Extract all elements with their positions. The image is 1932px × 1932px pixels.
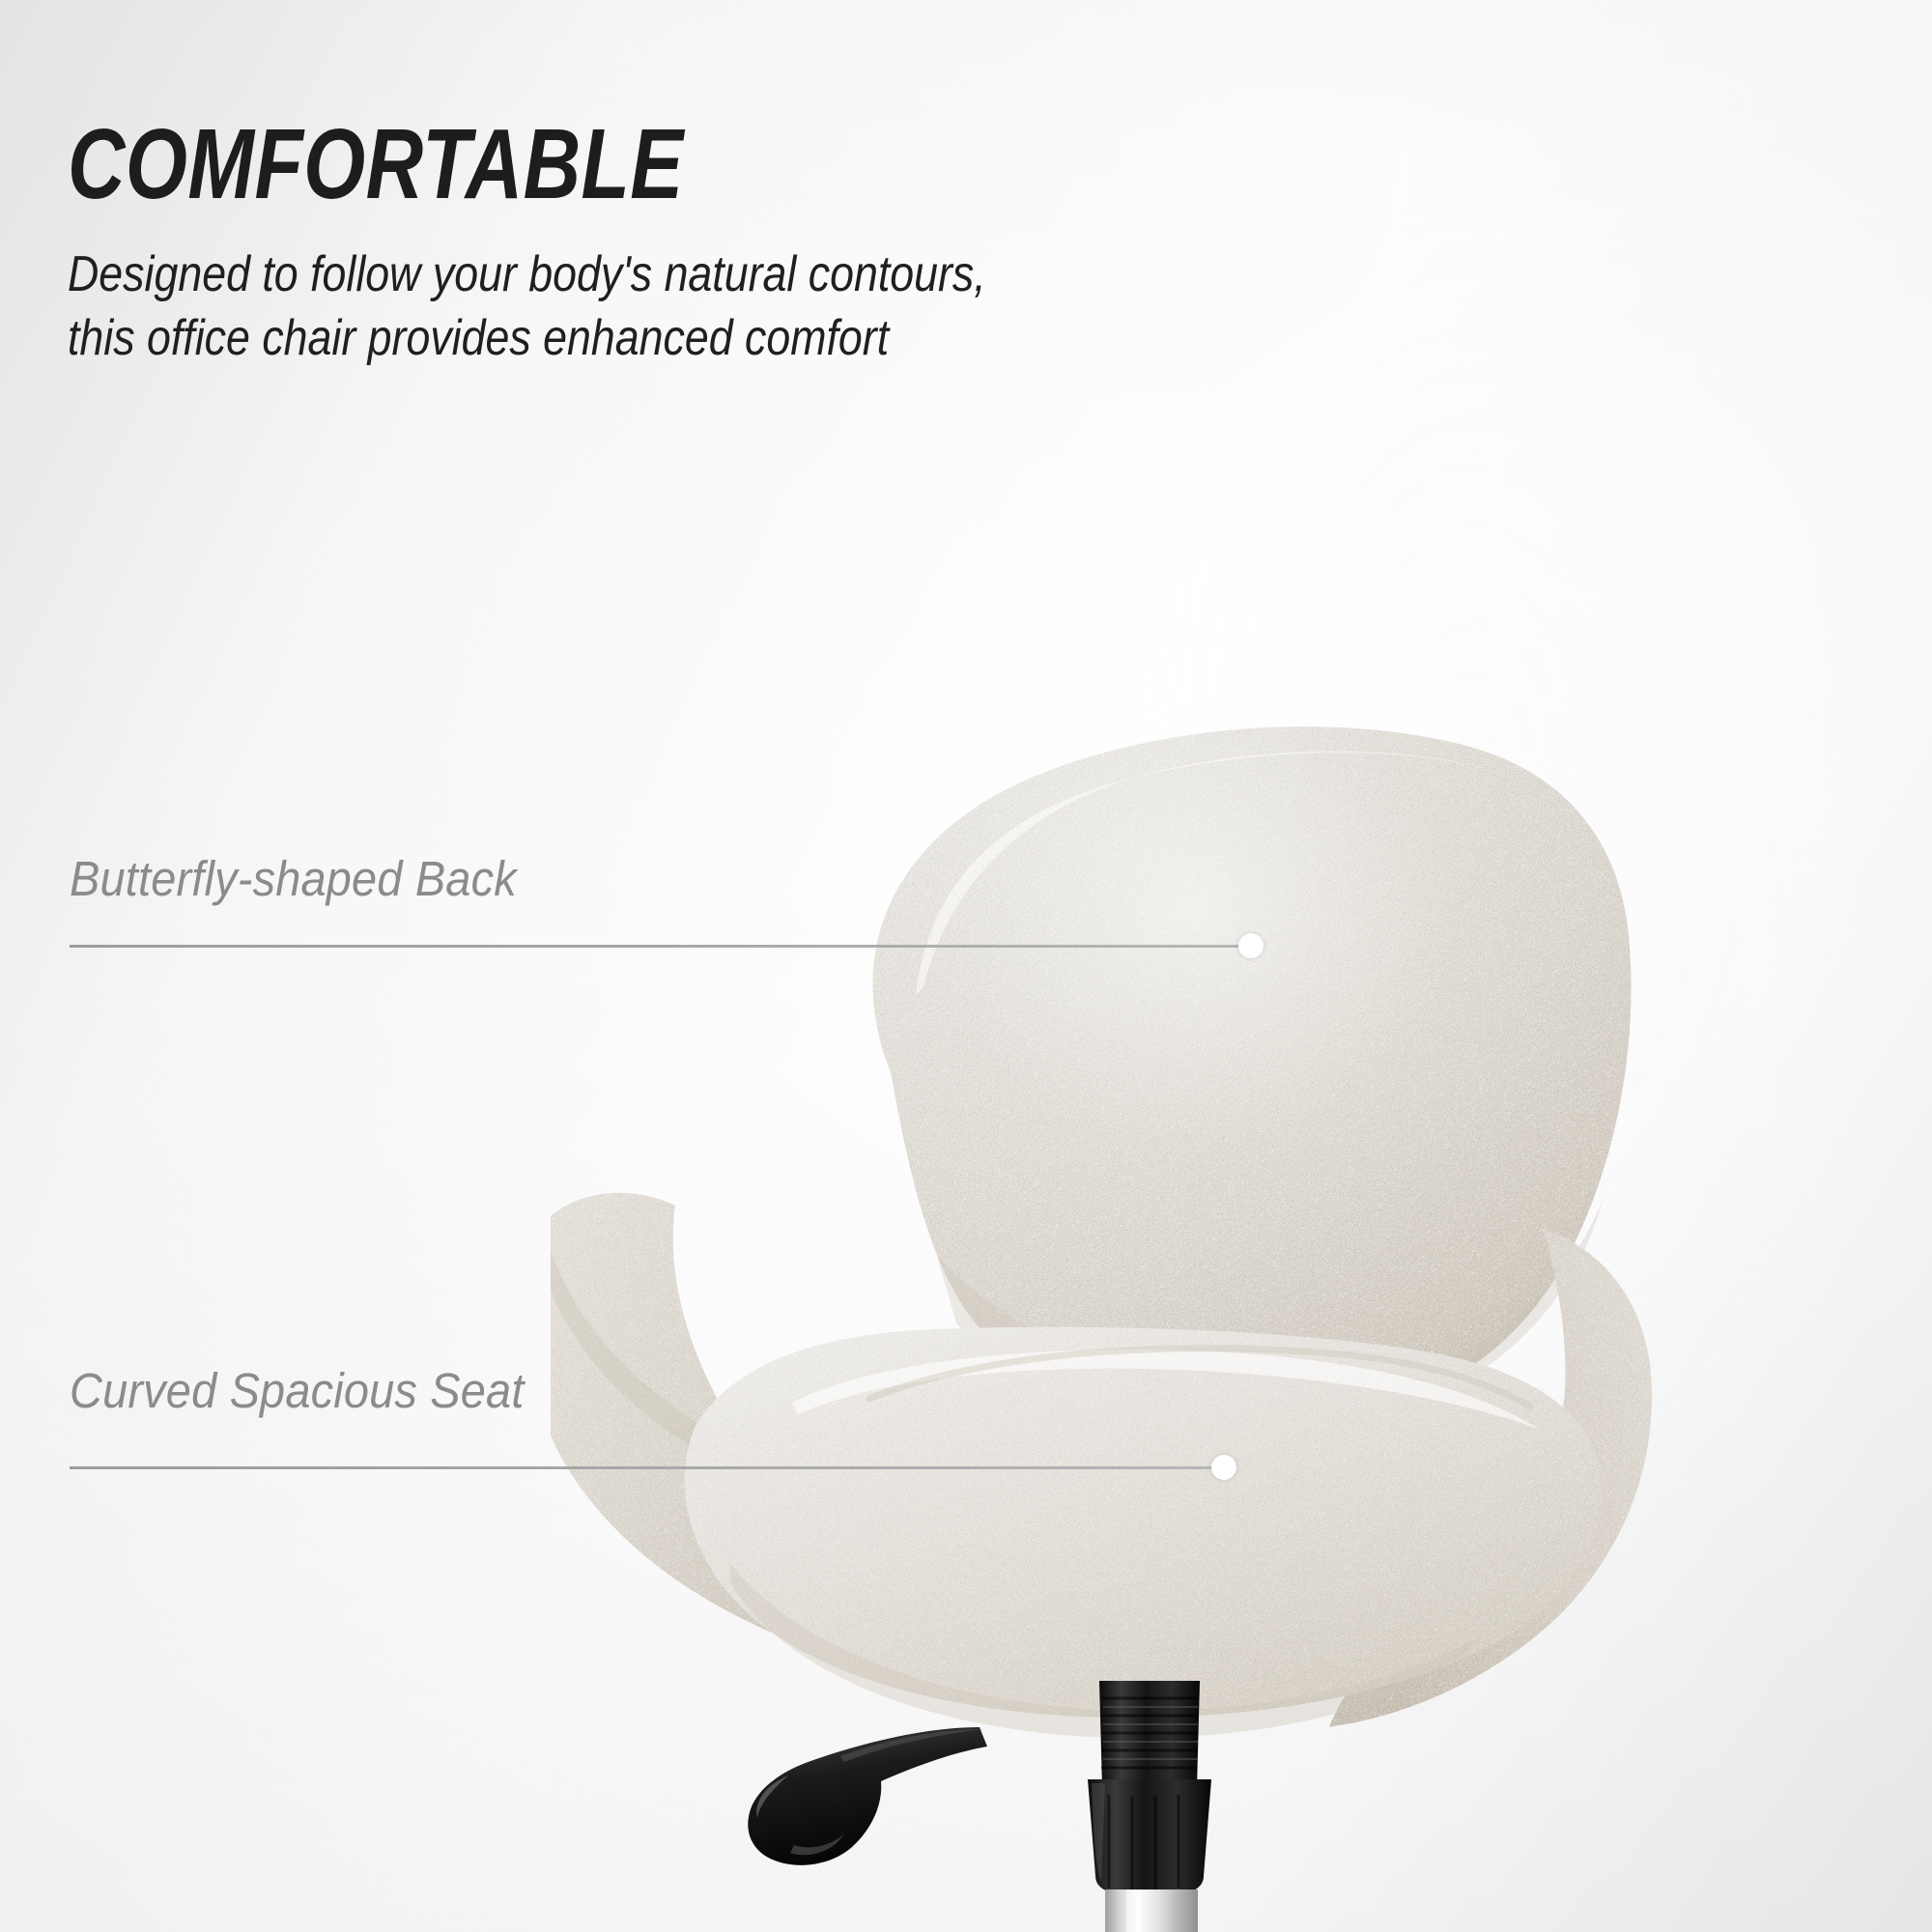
chair-armrest-left	[551, 1193, 994, 1679]
callout-leader-line-butterfly-back	[70, 945, 1248, 948]
callout-leader-line-curved-seat	[70, 1466, 1221, 1469]
gas-cylinder-cover	[1088, 1681, 1211, 1897]
callout-dot-curved-seat	[1211, 1455, 1236, 1480]
product-feature-banner: COMFORTABLE Designed to follow your body…	[0, 0, 1932, 1932]
callout-label-butterfly-back: Butterfly-shaped Back	[70, 850, 517, 907]
subtitle-line-1: Designed to follow your body's natural c…	[68, 242, 1048, 306]
headline-block: COMFORTABLE Designed to follow your body…	[68, 114, 1207, 370]
chair-backrest	[872, 726, 1631, 1433]
page-subtitle: Designed to follow your body's natural c…	[68, 242, 1048, 370]
chair-seat	[685, 1327, 1602, 1738]
callout-dot-butterfly-back	[1238, 933, 1264, 958]
chair-armrest-right	[1329, 1229, 1652, 1726]
office-chair-illustration	[551, 454, 1671, 1932]
height-adjust-lever	[748, 1727, 987, 1865]
callout-label-curved-seat: Curved Spacious Seat	[70, 1362, 525, 1419]
gas-lift-column	[1105, 1889, 1198, 1932]
subtitle-line-2: this office chair provides enhanced comf…	[68, 306, 1048, 370]
page-title: COMFORTABLE	[68, 114, 980, 213]
